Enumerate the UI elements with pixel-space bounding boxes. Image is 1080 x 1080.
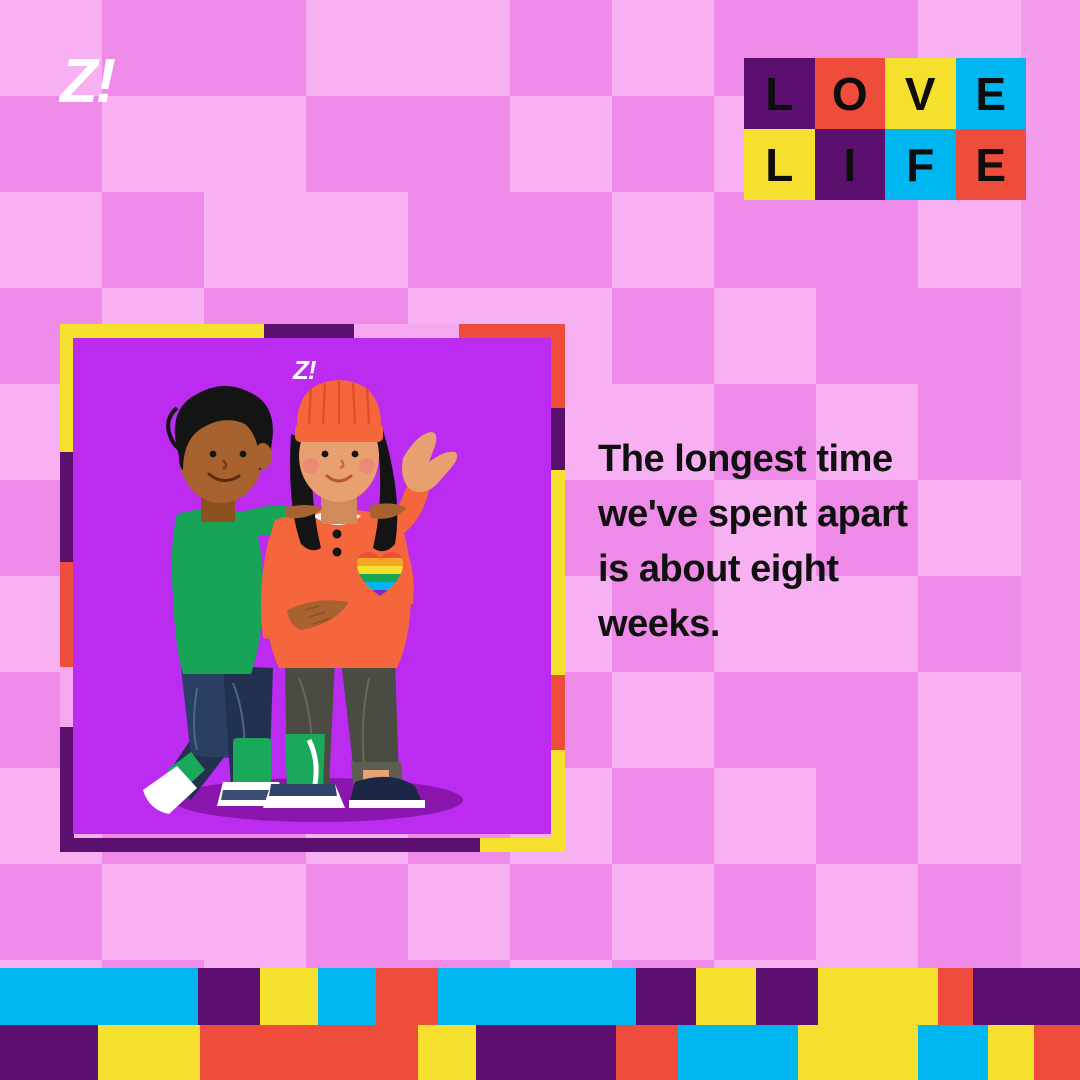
frame-segment-top-2 xyxy=(354,324,459,338)
strip-block-10 xyxy=(1034,1025,1080,1080)
mosaic-block xyxy=(102,864,205,961)
mosaic-block xyxy=(612,0,715,97)
frame-segment-bottom-0 xyxy=(60,838,480,852)
mosaic-block xyxy=(918,288,1021,385)
strip-block-2 xyxy=(260,968,318,1025)
mosaic-block xyxy=(714,288,817,385)
frame-segment-top-0 xyxy=(60,324,264,338)
strip-block-1 xyxy=(198,968,260,1025)
mosaic-block xyxy=(510,864,613,961)
strip-block-5 xyxy=(616,1025,678,1080)
strip-block-6 xyxy=(678,1025,798,1080)
love-life-cell-l-4: L xyxy=(744,129,815,200)
mosaic-block xyxy=(102,96,205,193)
love-life-cell-f-6: F xyxy=(885,129,956,200)
mosaic-block xyxy=(204,864,307,961)
strip-block-7 xyxy=(696,968,756,1025)
mosaic-block xyxy=(102,0,205,97)
frame-segment-left-2 xyxy=(60,562,74,667)
mosaic-block xyxy=(612,864,715,961)
frame-segment-right-3 xyxy=(551,675,565,750)
mosaic-block xyxy=(918,192,1021,289)
right-woman-shoe-navy xyxy=(349,777,423,804)
strip-block-5 xyxy=(438,968,636,1025)
mosaic-block xyxy=(0,192,103,289)
brand-logo-zed: Z! xyxy=(60,58,114,106)
frame-segment-top-3 xyxy=(459,324,565,338)
mosaic-block xyxy=(816,864,919,961)
mosaic-block xyxy=(816,192,919,289)
mosaic-block xyxy=(918,672,1021,769)
mosaic-block xyxy=(306,0,409,97)
strip-block-8 xyxy=(756,968,818,1025)
mosaic-block xyxy=(714,768,817,865)
love-life-logo: LOVELIFE xyxy=(744,58,1026,200)
strip-block-3 xyxy=(418,1025,476,1080)
mosaic-block xyxy=(816,672,919,769)
love-life-cell-i-5: I xyxy=(815,129,886,200)
frame-segment-left-0 xyxy=(60,324,74,452)
mosaic-block xyxy=(510,0,613,97)
love-life-cell-e-3: E xyxy=(956,58,1027,129)
mosaic-block xyxy=(204,0,307,97)
love-life-cell-v-2: V xyxy=(885,58,956,129)
strip-block-8 xyxy=(918,1025,988,1080)
love-life-cell-e-7: E xyxy=(956,129,1027,200)
love-life-cell-o-1: O xyxy=(815,58,886,129)
mosaic-block xyxy=(408,192,511,289)
mosaic-block xyxy=(918,864,1021,961)
mosaic-block xyxy=(612,288,715,385)
mosaic-block xyxy=(918,768,1021,865)
strip-block-2 xyxy=(200,1025,418,1080)
mosaic-block xyxy=(306,864,409,961)
mosaic-block xyxy=(0,864,103,961)
love-life-cell-l-0: L xyxy=(744,58,815,129)
strip-block-0 xyxy=(0,1025,98,1080)
illustration-card xyxy=(73,338,551,834)
mosaic-block xyxy=(204,192,307,289)
two-women-embracing-illustration xyxy=(73,338,551,834)
frame-segment-right-1 xyxy=(551,408,565,470)
mosaic-block xyxy=(510,96,613,193)
frame-segment-top-1 xyxy=(264,324,354,338)
mosaic-block xyxy=(306,192,409,289)
strip-row-top xyxy=(0,968,1080,1025)
mosaic-block xyxy=(816,288,919,385)
mosaic-block xyxy=(612,768,715,865)
mosaic-block xyxy=(204,96,307,193)
mosaic-block xyxy=(408,96,511,193)
quote-text: The longest time we've spent apart is ab… xyxy=(598,432,1018,652)
right-woman-hand-wave xyxy=(402,432,457,492)
strip-block-1 xyxy=(98,1025,200,1080)
mosaic-block xyxy=(612,672,715,769)
strip-block-0 xyxy=(0,968,198,1025)
strip-block-11 xyxy=(973,968,1080,1025)
strip-block-4 xyxy=(376,968,438,1025)
mosaic-block xyxy=(714,864,817,961)
frame-segment-left-1 xyxy=(60,452,74,562)
mosaic-block xyxy=(816,768,919,865)
mosaic-block xyxy=(612,192,715,289)
mosaic-block xyxy=(714,192,817,289)
illustration-frame: Z! xyxy=(60,324,565,852)
frame-segment-right-4 xyxy=(551,750,565,852)
strip-block-9 xyxy=(988,1025,1034,1080)
strip-block-6 xyxy=(636,968,696,1025)
mosaic-block xyxy=(408,0,511,97)
mosaic-block xyxy=(102,192,205,289)
mosaic-block xyxy=(306,96,409,193)
brand-logo-card: Z! xyxy=(293,360,315,380)
mosaic-block xyxy=(612,96,715,193)
strip-block-3 xyxy=(318,968,376,1025)
strip-block-4 xyxy=(476,1025,616,1080)
strip-block-7 xyxy=(798,1025,918,1080)
strip-block-9 xyxy=(818,968,938,1025)
strip-block-10 xyxy=(938,968,973,1025)
strip-row-bottom xyxy=(0,1025,1080,1080)
frame-segment-right-0 xyxy=(551,324,565,408)
right-woman-sock-green xyxy=(285,734,325,790)
mosaic-block xyxy=(714,672,817,769)
frame-segment-right-2 xyxy=(551,470,565,675)
frame-segment-left-4 xyxy=(60,727,74,852)
mosaic-block xyxy=(408,864,511,961)
mosaic-block xyxy=(510,192,613,289)
frame-segment-left-3 xyxy=(60,667,74,727)
bottom-color-strip xyxy=(0,968,1080,1080)
